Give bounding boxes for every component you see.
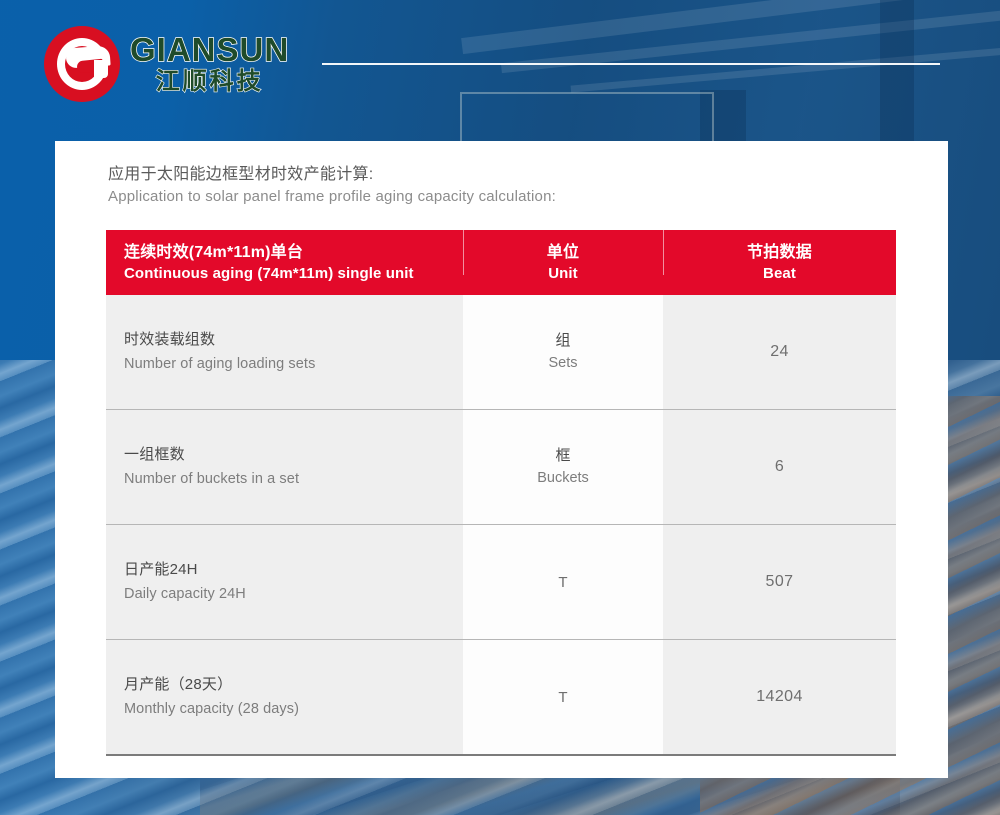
table-row: 时效装载组数 Number of aging loading sets 组 Se…: [106, 295, 896, 410]
page-title: 应用于太阳能边框型材时效产能计算: Application to solar p…: [108, 164, 556, 208]
table-cell-unit: T: [463, 525, 663, 639]
unit-label-en: Buckets: [537, 467, 589, 490]
table-header-item-cn: 连续时效(74m*11m)单台: [124, 242, 449, 263]
page-header: GIANSUN 江顺科技: [0, 0, 1000, 128]
table-header-unit-cn: 单位: [477, 242, 649, 263]
item-label-en: Number of buckets in a set: [124, 467, 463, 491]
item-label-en: Number of aging loading sets: [124, 352, 463, 376]
beat-value: 24: [770, 343, 789, 361]
table-row: 一组框数 Number of buckets in a set 框 Bucket…: [106, 410, 896, 525]
unit-label-single: T: [558, 574, 567, 591]
beat-value: 507: [766, 573, 794, 591]
table-cell-value: 507: [663, 525, 896, 639]
table-cell-value: 24: [663, 295, 896, 409]
table-header-cell-unit: 单位 Unit: [463, 242, 663, 284]
unit-label-en: Sets: [548, 352, 577, 375]
brand-name-cn: 江顺科技: [130, 70, 289, 94]
unit-label-single: T: [558, 689, 567, 706]
table-cell-value: 14204: [663, 640, 896, 754]
giansun-circle-g-logo-icon: [44, 26, 120, 102]
item-label-cn: 日产能24H: [124, 558, 463, 582]
table-cell-item: 日产能24H Daily capacity 24H: [106, 525, 463, 639]
table-cell-item: 时效装载组数 Number of aging loading sets: [106, 295, 463, 409]
item-label-cn: 月产能（28天）: [124, 673, 463, 697]
table-cell-item: 一组框数 Number of buckets in a set: [106, 410, 463, 524]
table-header-unit-en: Unit: [477, 263, 649, 284]
table-cell-unit: 框 Buckets: [463, 410, 663, 524]
item-label-cn: 一组框数: [124, 443, 463, 467]
unit-label-cn: 框: [555, 444, 570, 467]
table-header-cell-item: 连续时效(74m*11m)单台 Continuous aging (74m*11…: [106, 242, 463, 284]
item-label-cn: 时效装载组数: [124, 328, 463, 352]
capacity-table: 连续时效(74m*11m)单台 Continuous aging (74m*11…: [106, 230, 896, 756]
table-row: 月产能（28天） Monthly capacity (28 days) T 14…: [106, 640, 896, 756]
brand-wordmark: GIANSUN 江顺科技: [130, 33, 289, 96]
beat-value: 6: [775, 458, 784, 476]
table-cell-value: 6: [663, 410, 896, 524]
page-title-cn: 应用于太阳能边框型材时效产能计算:: [108, 164, 556, 186]
table-header-beat-cn: 节拍数据: [677, 242, 882, 263]
table-header-item-en: Continuous aging (74m*11m) single unit: [124, 263, 449, 284]
table-cell-unit: 组 Sets: [463, 295, 663, 409]
table-cell-unit: T: [463, 640, 663, 754]
header-divider-line: [322, 63, 940, 65]
table-row: 日产能24H Daily capacity 24H T 507: [106, 525, 896, 640]
brand-name-en: GIANSUN: [130, 33, 289, 66]
item-label-en: Monthly capacity (28 days): [124, 697, 463, 721]
page-title-en: Application to solar panel frame profile…: [108, 186, 556, 208]
table-header-beat-en: Beat: [677, 263, 882, 284]
table-header-cell-beat: 节拍数据 Beat: [663, 242, 896, 284]
table-cell-item: 月产能（28天） Monthly capacity (28 days): [106, 640, 463, 754]
slide-page: GIANSUN 江顺科技 应用于太阳能边框型材时效产能计算: Applicati…: [0, 0, 1000, 815]
beat-value: 14204: [756, 688, 803, 706]
brand-logo[interactable]: GIANSUN 江顺科技: [44, 26, 289, 102]
logo-tail-shape: [94, 60, 108, 78]
unit-label-cn: 组: [555, 329, 570, 352]
table-header-row: 连续时效(74m*11m)单台 Continuous aging (74m*11…: [106, 230, 896, 295]
item-label-en: Daily capacity 24H: [124, 582, 463, 606]
content-card: 应用于太阳能边框型材时效产能计算: Application to solar p…: [55, 141, 948, 778]
